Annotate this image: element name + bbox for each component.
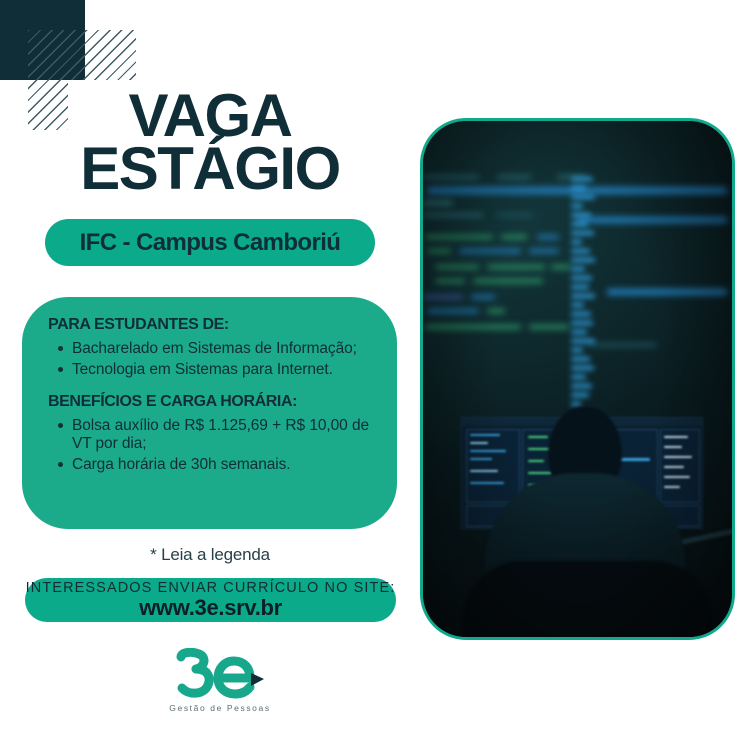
site-badge-url[interactable]: www.3e.srv.br — [139, 596, 282, 619]
brand-logo: Gestão de Pessoas — [150, 648, 290, 713]
list-item: Carga horária de 30h semanais. — [72, 456, 369, 474]
title-line-2: ESTÁGIO — [22, 143, 398, 196]
logo-3e-icon — [172, 648, 268, 700]
list-item: Bacharelado em Sistemas de Informação; — [72, 340, 369, 358]
site-badge-cta: INTERESSADOS ENVIAR CURRÍCULO NO SITE: — [26, 581, 396, 596]
benefits-list: Bolsa auxílio de R$ 1.125,69 + R$ 10,00 … — [48, 417, 373, 473]
poster-root: VAGA ESTÁGIO IFC - Campus Camboriú PARA … — [0, 0, 750, 750]
list-item: Tecnologia em Sistemas para Internet. — [72, 361, 369, 379]
photo-panel — [420, 118, 735, 640]
triangle-icon — [251, 673, 264, 686]
section-heading-benefits: BENEFÍCIOS E CARGA HORÁRIA: — [48, 393, 373, 411]
info-card: PARA ESTUDANTES DE: Bacharelado em Siste… — [22, 297, 397, 529]
page-title: VAGA ESTÁGIO — [22, 90, 398, 196]
campus-badge-label: IFC - Campus Camboriú — [80, 229, 341, 257]
list-item: Bolsa auxílio de R$ 1.125,69 + R$ 10,00 … — [72, 417, 369, 452]
site-badge[interactable]: INTERESSADOS ENVIAR CURRÍCULO NO SITE: w… — [25, 578, 396, 622]
logo-tagline: Gestão de Pessoas — [150, 703, 290, 713]
legend-note: * Leia a legenda — [22, 545, 398, 565]
section-heading-students: PARA ESTUDANTES DE: — [48, 316, 373, 334]
students-list: Bacharelado em Sistemas de Informação; T… — [48, 340, 373, 378]
campus-badge: IFC - Campus Camboriú — [45, 219, 375, 266]
navy-stem — [0, 0, 28, 80]
photo-vignette — [423, 121, 732, 637]
